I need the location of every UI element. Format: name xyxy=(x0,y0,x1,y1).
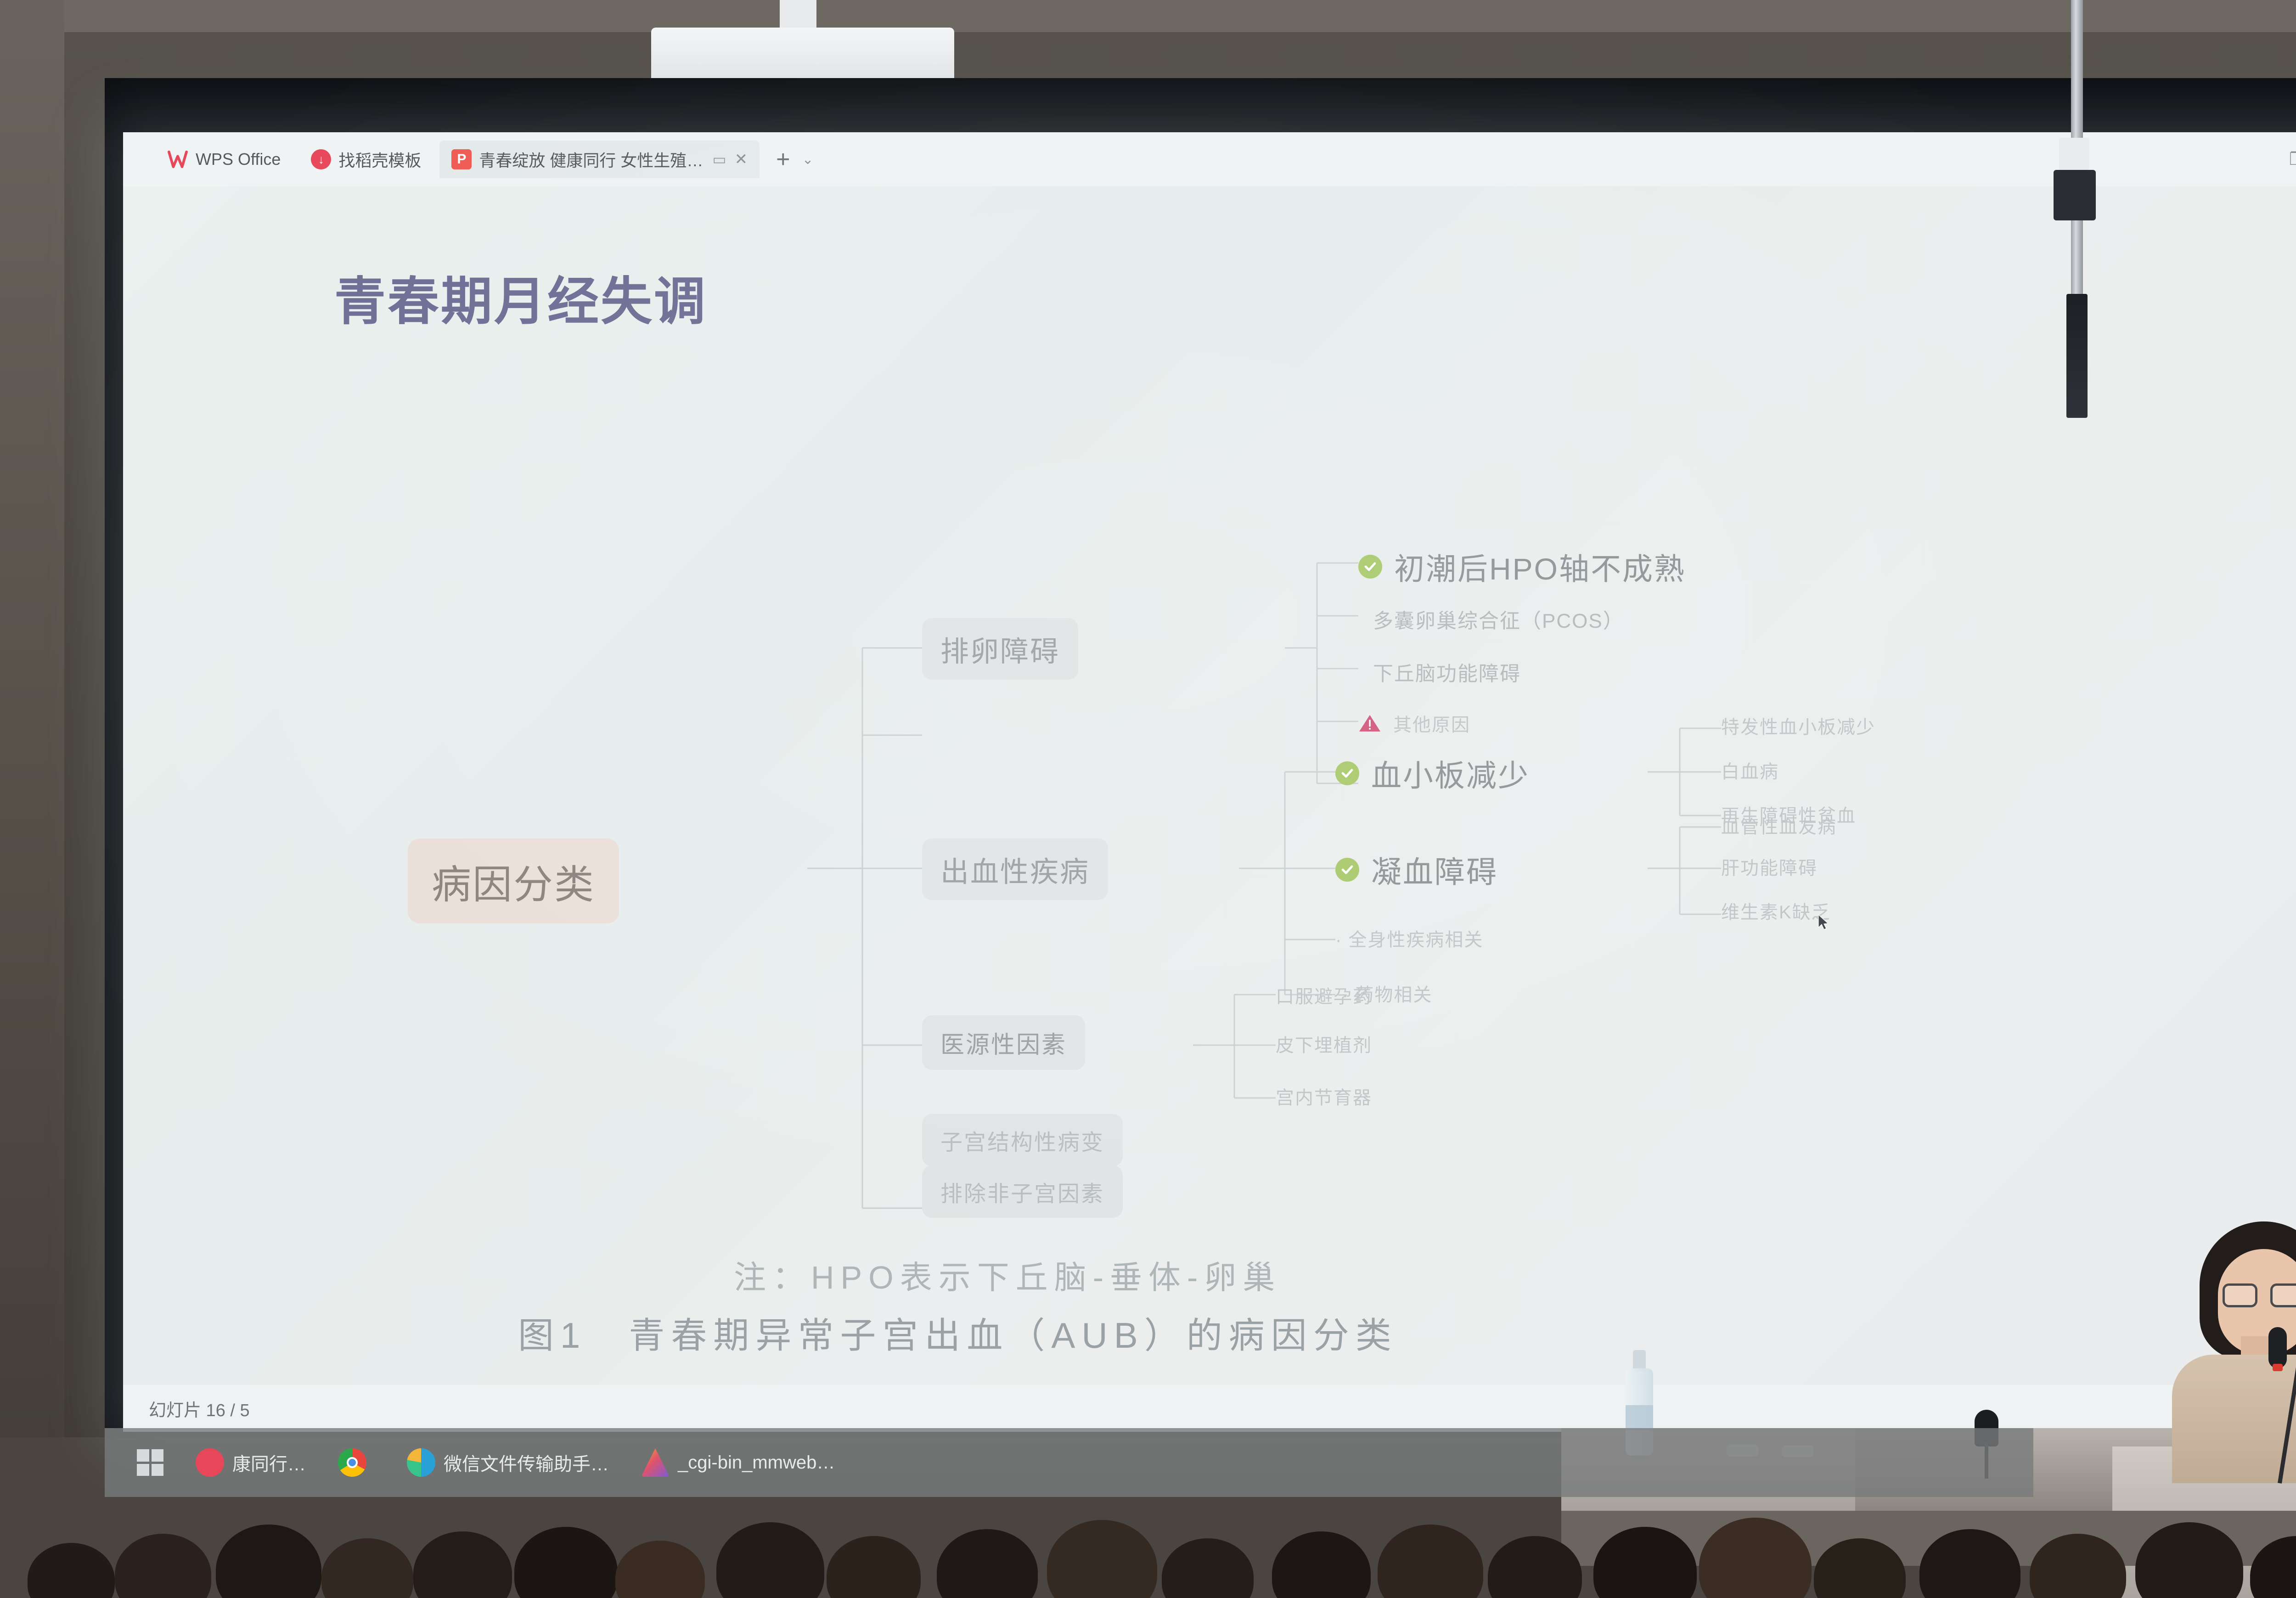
audience-head xyxy=(321,1538,413,1598)
audience-silhouettes xyxy=(0,1460,2296,1598)
mindmap-root-node[interactable]: 病因分类 xyxy=(408,838,619,923)
leaf-label: 初潮后HPO轴不成熟 xyxy=(1394,545,1686,589)
microphone-led xyxy=(2273,1364,2283,1371)
leaf-label: 皮下埋植剂 xyxy=(1276,1030,1372,1057)
window-controls: ❐ ⬡ — ❐ ✕ xyxy=(2289,132,2296,186)
leaf-label: 下丘脑功能障碍 xyxy=(1373,657,1521,686)
wps-office-window: WPS Office ↓ 找稻壳模板 P 青春绽放 健康同行 女性生殖… ▭ ✕… xyxy=(123,132,2296,1432)
leaf-other-causes[interactable]: 其他原因 xyxy=(1358,710,1470,737)
ceiling-strip xyxy=(0,0,2296,32)
leaf-coagulation-disorder[interactable]: 凝血障碍 xyxy=(1335,848,1498,892)
audience-head xyxy=(937,1529,1038,1598)
branch-label: 医源性因素 xyxy=(922,1015,1085,1070)
audience-head xyxy=(1814,1538,1906,1598)
audience-head xyxy=(1272,1531,1371,1598)
leaf-subdermal-implant[interactable]: 皮下埋植剂 xyxy=(1276,1030,1372,1057)
branch-label: 出血性疾病 xyxy=(922,838,1108,900)
branch-label: 排除非子宫因素 xyxy=(922,1165,1123,1218)
audience-head xyxy=(1593,1527,1697,1598)
leaf-von-willebrand[interactable]: 血管性血友病 xyxy=(1721,812,1837,838)
branch-node-exclude-nonuterine[interactable]: 排除非子宫因素 xyxy=(922,1165,1123,1218)
leaf-label: 口服避孕药 xyxy=(1276,982,1372,1008)
audience-head xyxy=(1162,1538,1254,1598)
mindmap: 病因分类 排卵障碍 初潮后HPO轴不成熟 多囊卵巢综合征（PCOS） 下丘脑功能… xyxy=(123,186,2296,1385)
mouse-cursor xyxy=(1818,914,1829,931)
audience-head xyxy=(1919,1529,2020,1598)
leaf-vitamin-k-deficiency[interactable]: 维生素K缺乏 xyxy=(1721,897,1831,924)
audience-head xyxy=(716,1522,824,1598)
leaf-label: 白血病 xyxy=(1721,757,1779,783)
audience-head xyxy=(2250,1536,2296,1598)
copy-icon[interactable]: ❐ xyxy=(2289,151,2296,168)
leaf-oral-contraceptive[interactable]: 口服避孕药 xyxy=(1276,982,1372,1008)
leaf-hypothalamic-dysfunction[interactable]: 下丘脑功能障碍 xyxy=(1373,657,1521,686)
hanging-strap xyxy=(2066,294,2088,418)
tab-label: WPS Office xyxy=(196,150,281,169)
leaf-label: 肝功能障碍 xyxy=(1721,853,1818,880)
branch-node-uterine-structural[interactable]: 子宫结构性病变 xyxy=(922,1114,1123,1166)
audience-head xyxy=(1699,1518,1812,1598)
branch-label: 排卵障碍 xyxy=(922,618,1078,680)
leaf-itp[interactable]: 特发性血小板减少 xyxy=(1721,712,1875,739)
tab-label: 青春绽放 健康同行 女性生殖… xyxy=(479,147,703,171)
audience-head xyxy=(413,1531,512,1598)
leaf-pcos[interactable]: 多囊卵巢综合征（PCOS） xyxy=(1373,604,1624,634)
branch-label: 子宫结构性病变 xyxy=(922,1114,1123,1166)
comment-icon[interactable]: ▭ xyxy=(712,151,726,168)
slide-counter: 幻灯片 16 / 5 xyxy=(149,1396,250,1421)
branch-node-iatrogenic[interactable]: 医源性因素 xyxy=(922,1015,1085,1070)
left-wall xyxy=(0,0,64,1437)
slide-note: 注：HPO表示下丘脑-垂体-卵巢 xyxy=(734,1252,1281,1298)
chevron-down-icon[interactable]: ⌄ xyxy=(802,152,814,168)
audience-head xyxy=(514,1527,618,1598)
leaf-label: · 全身性疾病相关 xyxy=(1335,925,1483,951)
audience-head xyxy=(28,1543,115,1598)
leaf-label: 特发性血小板减少 xyxy=(1721,712,1875,739)
pole-bracket xyxy=(2059,138,2089,170)
audience-head xyxy=(115,1534,211,1598)
leaf-label: 宫内节育器 xyxy=(1276,1083,1372,1109)
wps-tab-bar: WPS Office ↓ 找稻壳模板 P 青春绽放 健康同行 女性生殖… ▭ ✕… xyxy=(123,132,2296,186)
branch-node-ovulation[interactable]: 排卵障碍 xyxy=(922,618,1078,680)
powerpoint-icon: P xyxy=(451,149,472,169)
audience-head xyxy=(1488,1536,1582,1598)
docer-icon: ↓ xyxy=(311,149,331,169)
audience-head xyxy=(216,1525,321,1598)
figure-caption: 图1 青春期异常子宫出血（AUB）的病因分类 xyxy=(518,1307,1398,1358)
branch-node-bleeding-disorders[interactable]: 出血性疾病 xyxy=(922,838,1108,900)
pole-device xyxy=(2054,170,2096,220)
tab-docer-templates[interactable]: ↓ 找稻壳模板 xyxy=(299,141,433,178)
tab-presentation-active[interactable]: P 青春绽放 健康同行 女性生殖… ▭ ✕ xyxy=(439,141,760,178)
leaf-systemic-disease-related[interactable]: · 全身性疾病相关 xyxy=(1335,925,1483,951)
tab-label: 找稻壳模板 xyxy=(338,147,421,171)
leaf-label: 血管性血友病 xyxy=(1721,812,1837,838)
leaf-label: 血小板减少 xyxy=(1371,751,1530,795)
leaf-label: 凝血障碍 xyxy=(1371,848,1498,892)
slide-canvas[interactable]: 青春期月经失调 xyxy=(123,186,2296,1385)
leaf-liver-dysfunction[interactable]: 肝功能障碍 xyxy=(1721,853,1818,880)
leaf-iud[interactable]: 宫内节育器 xyxy=(1276,1083,1372,1109)
audience-head xyxy=(2030,1534,2126,1598)
leaf-leukemia[interactable]: 白血病 xyxy=(1721,757,1779,783)
glasses-icon xyxy=(2223,1283,2296,1307)
audience-head xyxy=(827,1536,921,1598)
leaf-label: 其他原因 xyxy=(1393,710,1470,737)
leaf-label: 多囊卵巢综合征（PCOS） xyxy=(1373,604,1624,634)
wps-logo-icon xyxy=(167,149,188,169)
plus-icon[interactable]: + xyxy=(776,146,790,173)
presenter-microphone xyxy=(2268,1327,2287,1368)
status-bar: 幻灯片 16 / 5 xyxy=(123,1385,2296,1432)
leaf-hpo-immature[interactable]: 初潮后HPO轴不成熟 xyxy=(1358,545,1686,589)
check-circle-icon xyxy=(1358,555,1382,579)
leaf-label: 维生素K缺乏 xyxy=(1721,897,1831,924)
warning-triangle-icon xyxy=(1358,713,1381,733)
check-circle-icon xyxy=(1335,761,1359,785)
leaf-thrombocytopenia[interactable]: 血小板减少 xyxy=(1335,751,1530,795)
audience-head xyxy=(615,1541,705,1598)
close-icon[interactable]: ✕ xyxy=(735,150,748,169)
bottle-label xyxy=(1626,1405,1653,1430)
root-label: 病因分类 xyxy=(408,838,619,923)
tab-wps-office[interactable]: WPS Office xyxy=(155,141,293,178)
audience-head xyxy=(1378,1525,1483,1598)
audience-head xyxy=(2135,1522,2243,1598)
check-circle-icon xyxy=(1335,858,1359,882)
audience-head xyxy=(1047,1520,1157,1598)
